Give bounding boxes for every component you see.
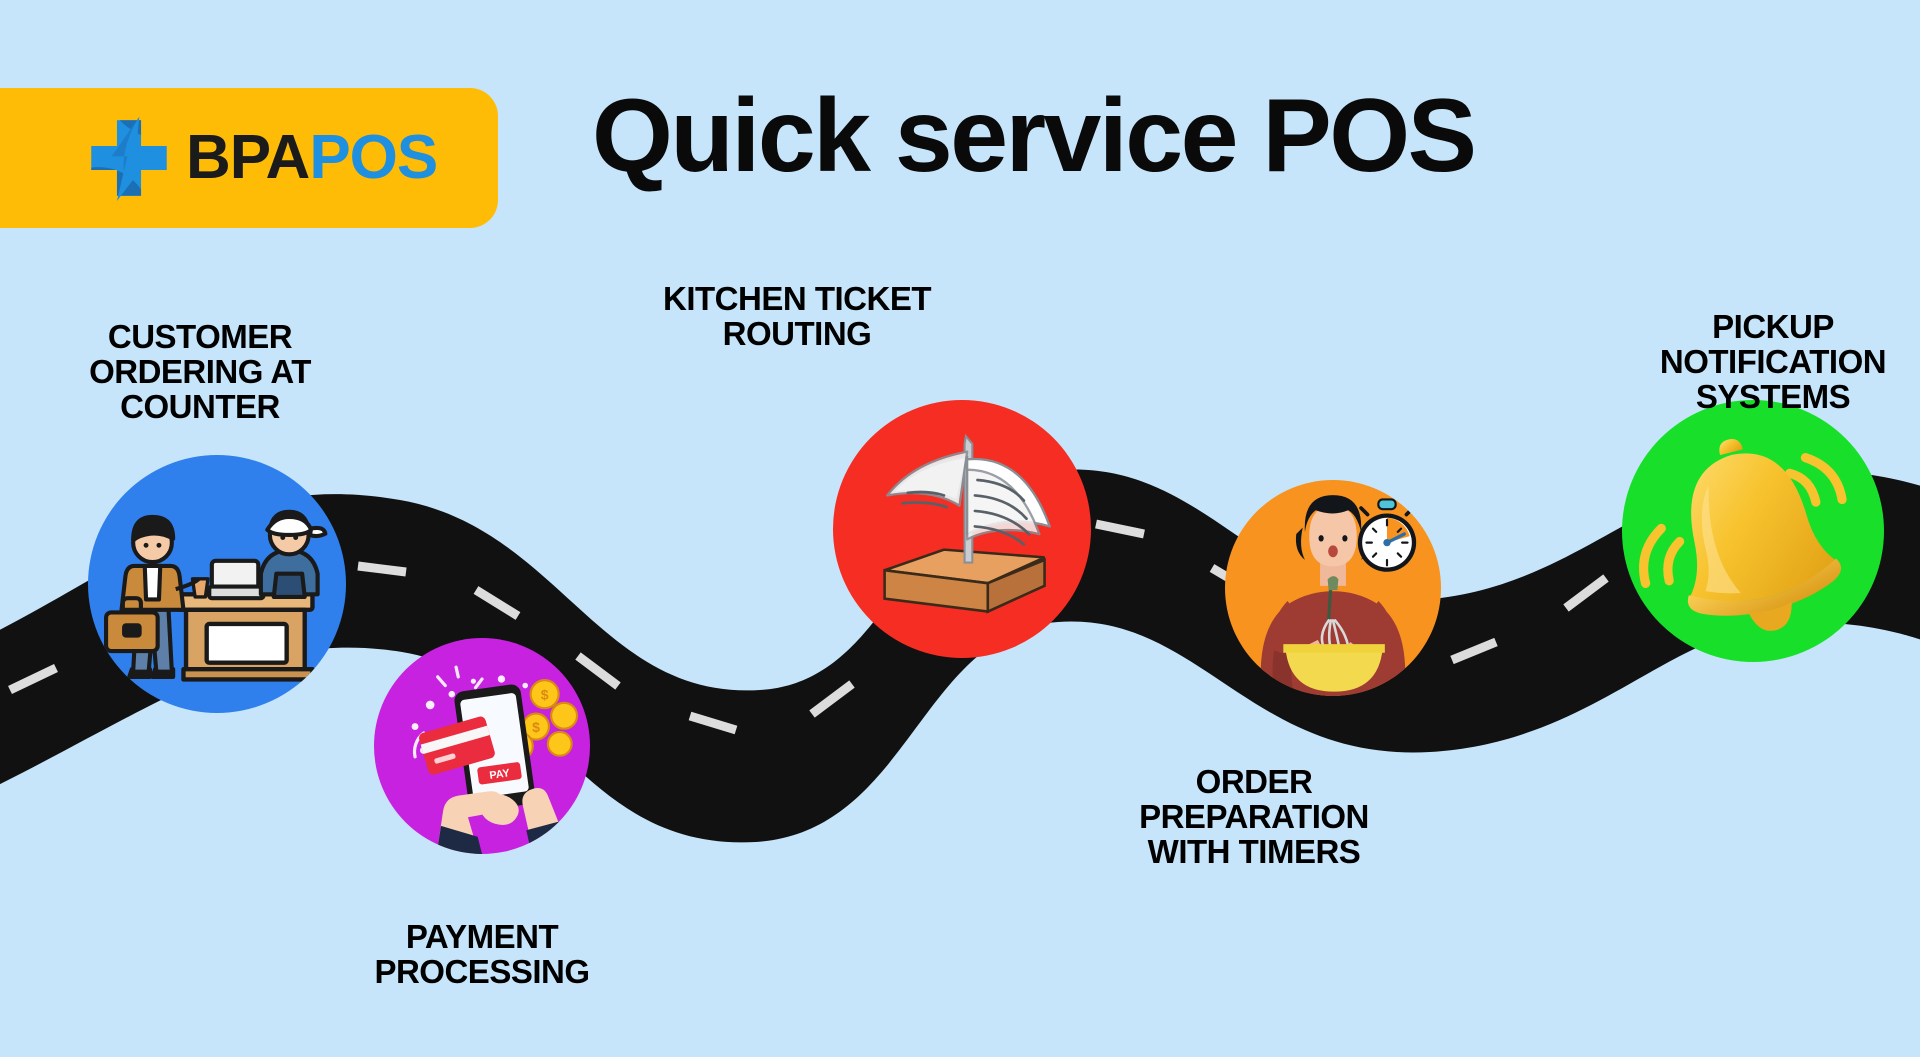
- step-2-label: PAYMENT PROCESSING: [322, 920, 642, 990]
- ringing-bell-icon: [1622, 400, 1884, 662]
- step-2-circle[interactable]: $$$ PAY: [374, 638, 590, 854]
- cross-bolt-icon: [86, 115, 172, 201]
- logo-pos-text: POS: [309, 123, 437, 192]
- order-ticket-spike-icon: [833, 400, 1091, 658]
- svg-text:$: $: [541, 687, 549, 703]
- step-5-circle[interactable]: [1622, 400, 1884, 662]
- page-title: Quick service POS: [592, 84, 1474, 188]
- step-1-circle[interactable]: [88, 455, 346, 713]
- step-3-circle[interactable]: [833, 400, 1091, 658]
- step-3-label: KITCHEN TICKET ROUTING: [612, 282, 982, 352]
- logo-bpa-text: BPA: [186, 123, 309, 192]
- brand-logo-text: BPAPOS: [186, 127, 437, 189]
- mobile-payment-icon: $$$ PAY: [374, 638, 590, 854]
- customer-at-counter-icon: [88, 455, 346, 713]
- svg-text:$: $: [532, 719, 540, 735]
- brand-logo-badge[interactable]: BPAPOS: [0, 88, 498, 228]
- step-1-label: CUSTOMER ORDERING AT COUNTER: [35, 320, 365, 425]
- step-5-label: PICKUP NOTIFICATION SYSTEMS: [1608, 310, 1920, 415]
- infographic-canvas: BPAPOS Quick service POS CUSTOMER ORDERI…: [0, 0, 1920, 1057]
- step-4-circle[interactable]: [1225, 480, 1441, 696]
- step-4-label: ORDER PREPARATION WITH TIMERS: [1074, 765, 1434, 870]
- cook-with-timer-icon: [1225, 480, 1441, 696]
